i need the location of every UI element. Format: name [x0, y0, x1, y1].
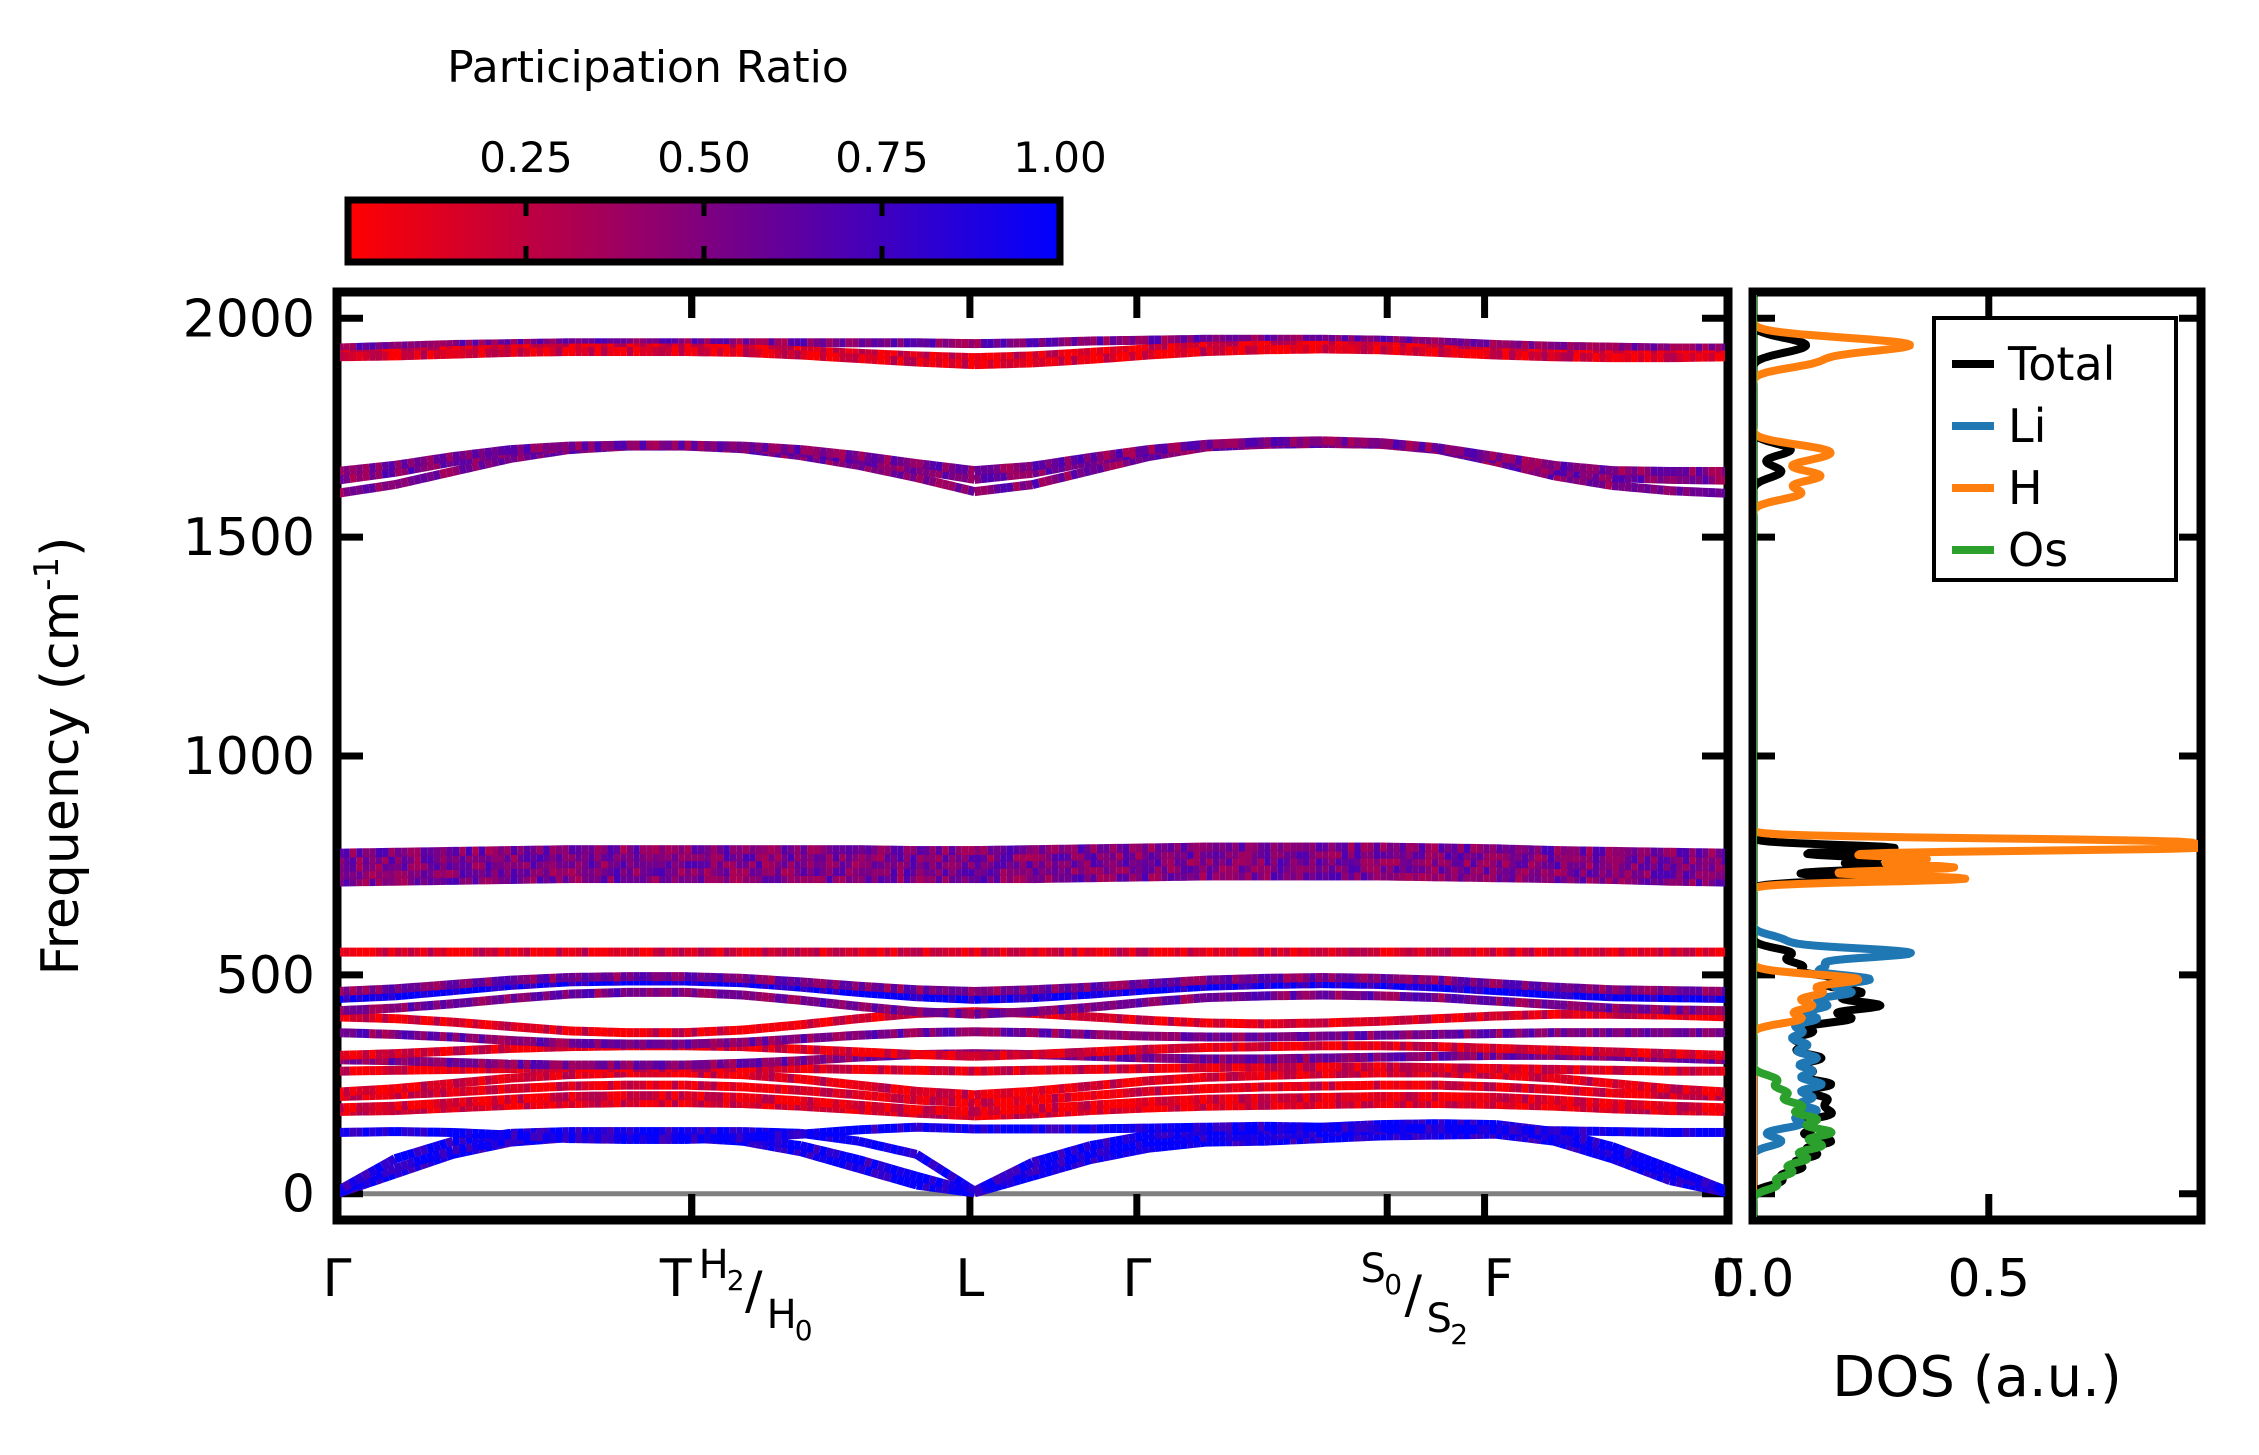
band-segment: [826, 1159, 832, 1161]
band-segment: [1644, 1086, 1650, 1087]
band-segment: [872, 1163, 878, 1165]
band-segment: [1020, 1165, 1026, 1168]
band-segment: [859, 1168, 865, 1170]
band-segment: [446, 471, 452, 472]
band-segment: [1039, 481, 1045, 483]
band-segment: [942, 1183, 948, 1185]
band-segment: [839, 1155, 845, 1157]
band-segment: [923, 1178, 929, 1180]
band-segment: [1187, 1143, 1193, 1144]
band-segment: [401, 1155, 407, 1157]
ylabel-main: Frequency (cm: [31, 591, 91, 976]
band-segment: [859, 1085, 865, 1086]
band-segment: [1644, 1159, 1650, 1161]
band-segment: [1026, 1162, 1032, 1165]
band-segment: [910, 1011, 916, 1012]
band-segment: [865, 1161, 871, 1163]
band-segment: [794, 1025, 800, 1026]
band-segment: [485, 1144, 491, 1145]
band-segment: [904, 1099, 910, 1100]
band-segment: [910, 1174, 916, 1176]
band-segment: [376, 1166, 382, 1170]
band-segment: [781, 1026, 787, 1027]
band-segment: [356, 489, 362, 490]
band-segment: [852, 1084, 858, 1085]
band-segment: [1000, 1175, 1006, 1178]
band-segment: [1116, 1004, 1122, 1005]
band-segment: [1554, 1078, 1560, 1079]
band-segment: [1084, 1160, 1090, 1162]
band-segment: [768, 997, 774, 998]
highsym-S-den-sub: 2: [1450, 1318, 1468, 1351]
band-segment: [878, 1087, 884, 1088]
band-segment: [524, 455, 530, 456]
band-segment: [768, 1027, 774, 1028]
band-segment: [1193, 1143, 1199, 1144]
band-segment: [1000, 488, 1006, 489]
band-segment: [865, 1017, 871, 1018]
band-segment: [1586, 1081, 1592, 1082]
y-tick-label: 1500: [183, 508, 315, 568]
x-tick-label-S0S2: S0/S2: [1361, 1246, 1469, 1351]
band-segment: [846, 1084, 852, 1085]
band-segment: [1580, 1081, 1586, 1082]
band-segment: [395, 483, 401, 484]
band-segment: [891, 1015, 897, 1016]
band-segment: [389, 1159, 395, 1163]
band-segment: [1573, 1137, 1579, 1139]
band-segment: [1696, 1178, 1702, 1181]
band-segment: [917, 1185, 923, 1186]
band-segment: [936, 1188, 942, 1189]
band-segment: [1200, 1137, 1206, 1138]
band-segment: [1174, 1139, 1180, 1140]
band-segment: [917, 1176, 923, 1178]
band-segment: [440, 473, 446, 474]
band-segment: [846, 1165, 852, 1167]
band-segment: [363, 488, 369, 489]
band-segment: [1148, 1141, 1154, 1142]
band-segment: [859, 1006, 865, 1007]
band-segment: [389, 1168, 395, 1171]
band-segment: [1110, 1148, 1116, 1149]
band-segment: [794, 1145, 800, 1146]
band-segment: [788, 1144, 794, 1145]
band-segment: [408, 1153, 414, 1155]
band-segment: [762, 1028, 768, 1029]
band-segment: [768, 1142, 774, 1143]
band-segment: [846, 1156, 852, 1158]
band-segment: [801, 1152, 807, 1154]
band-segment: [446, 1141, 452, 1143]
band-curves: [337, 339, 1728, 1193]
band-segment: [1123, 461, 1129, 463]
band-segment: [427, 1156, 433, 1158]
band-segment: [1123, 1004, 1129, 1005]
highsym-S-num: S: [1361, 1246, 1386, 1292]
band-segment: [382, 486, 388, 487]
band-segment: [1168, 1145, 1174, 1146]
band-segment: [955, 487, 961, 489]
band-segment: [504, 999, 510, 1000]
band-segment: [962, 488, 968, 490]
band-segment: [1181, 1144, 1187, 1145]
band-segment: [408, 994, 414, 995]
band-segment: [1136, 1081, 1142, 1082]
band-segment: [459, 1003, 465, 1004]
x-tick-label: L: [955, 1249, 984, 1309]
band-segment: [1123, 1083, 1129, 1084]
band-segment: [826, 1021, 832, 1022]
band-segment: [891, 1178, 897, 1180]
band-segment: [1631, 1160, 1637, 1162]
band-segment: [820, 1150, 826, 1152]
band-segment: [453, 470, 459, 471]
band-segment: [1619, 1149, 1625, 1151]
band-segment: [1715, 1186, 1721, 1189]
band-segment: [859, 1018, 865, 1019]
band-segment: [878, 1016, 884, 1017]
band-segment: [904, 1181, 910, 1183]
band-segment: [498, 999, 504, 1000]
band-segment: [917, 478, 923, 480]
band-segment: [814, 1149, 820, 1151]
band-segment: [485, 463, 491, 464]
band-segment: [446, 1083, 452, 1084]
band-segment: [434, 1154, 440, 1156]
band-segment: [846, 1019, 852, 1020]
band-segment: [929, 1187, 935, 1188]
band-segment: [820, 1002, 826, 1003]
band-segment: [846, 991, 852, 992]
band-segment: [1071, 1087, 1077, 1088]
band-segment: [434, 1085, 440, 1086]
band-segment: [1142, 1081, 1148, 1082]
band-segment: [891, 1009, 897, 1010]
band-segment: [1612, 1083, 1618, 1084]
band-segment: [1657, 1163, 1663, 1165]
band-segment: [878, 1165, 884, 1167]
band-segment: [1058, 1153, 1064, 1155]
x-tick-label: Γ: [323, 1249, 352, 1309]
band-segment: [929, 1163, 935, 1167]
band-segment: [414, 994, 420, 995]
y-tick-label: 1000: [183, 727, 315, 787]
highsym-H-num-sub: 2: [727, 1264, 745, 1297]
band-segment: [1136, 1003, 1142, 1004]
band-segment: [884, 1088, 890, 1089]
band-segment: [1638, 1163, 1644, 1165]
band-segment: [434, 474, 440, 475]
band-segment: [459, 469, 465, 470]
band-segment: [440, 1152, 446, 1154]
band-segment: [1631, 1154, 1637, 1156]
band-segment: [459, 1148, 465, 1149]
band-segment: [1071, 474, 1077, 476]
band-segment: [1657, 1088, 1663, 1089]
band-segment: [1039, 1159, 1045, 1161]
band-segment: [395, 995, 401, 996]
band-segment: [1593, 1141, 1599, 1143]
band-segment: [833, 1004, 839, 1005]
band-segment: [1033, 483, 1039, 485]
band-segment: [775, 1142, 781, 1143]
band-segment: [401, 482, 407, 483]
band-segment: [1116, 1147, 1122, 1148]
colorbar-title: Participation Ratio: [447, 42, 849, 93]
band-segment: [936, 482, 942, 484]
band-segment: [904, 1090, 910, 1091]
band-segment: [884, 1009, 890, 1010]
band-segment: [872, 1008, 878, 1009]
band-segment: [472, 1001, 478, 1002]
band-segment: [1045, 1165, 1051, 1167]
band-segment: [446, 991, 452, 992]
band-segment: [1142, 1142, 1148, 1143]
band-segment: [1148, 1148, 1154, 1149]
band-segment: [1084, 471, 1090, 473]
band-segment: [897, 1179, 903, 1181]
figure-root: Participation Ratio0.250.500.751.0005001…: [0, 0, 2259, 1455]
band-segment: [459, 989, 465, 990]
band-segment: [1103, 1084, 1109, 1085]
band-segment: [1136, 1143, 1142, 1144]
x-tick-label: F: [1484, 1249, 1514, 1309]
band-segment: [395, 1157, 401, 1159]
band-segment: [1136, 1136, 1142, 1137]
band-segment: [1078, 1147, 1084, 1149]
band-segment: [343, 1184, 349, 1188]
band-segment: [1110, 464, 1116, 466]
band-segment: [1625, 1158, 1631, 1160]
band-segment: [414, 479, 420, 480]
band-segment: [1580, 1144, 1586, 1146]
band-segment: [1200, 1142, 1206, 1143]
band-segment: [1193, 1137, 1199, 1138]
band-segment: [1071, 1157, 1077, 1159]
band-segment: [1123, 1152, 1129, 1153]
band-segment: [852, 1006, 858, 1007]
band-segment: [1155, 1141, 1161, 1142]
band-segment: [814, 1155, 820, 1157]
band-segment: [1013, 486, 1019, 487]
band-segment: [1129, 1137, 1135, 1138]
band-segment: [356, 1177, 362, 1181]
band-segment: [872, 1087, 878, 1088]
colorbar: Participation Ratio0.250.500.751.00: [348, 42, 1107, 262]
band-segment: [788, 1149, 794, 1150]
band-segment: [781, 1143, 787, 1144]
band-segment: [1573, 1142, 1579, 1144]
band-segment: [756, 1028, 762, 1029]
band-segment: [414, 1151, 420, 1153]
band-segment: [1110, 1141, 1116, 1142]
band-segment: [891, 472, 897, 473]
band-segment: [498, 986, 504, 987]
band-segment: [479, 1001, 485, 1002]
band-segment: [833, 1082, 839, 1083]
band-segment: [466, 1139, 472, 1140]
band-segment: [1065, 1151, 1071, 1153]
band-segment: [466, 1002, 472, 1003]
band-segment: [421, 993, 427, 994]
band-segment: [453, 1083, 459, 1084]
band-segment: [897, 1098, 903, 1099]
colorbar-tick-label: 0.75: [835, 133, 929, 182]
band-segment: [1631, 1085, 1637, 1086]
band-segment: [472, 1081, 478, 1082]
band-segment: [479, 1081, 485, 1082]
band-segment: [936, 1167, 942, 1171]
band-segment: [504, 458, 510, 459]
band-segment: [1123, 1139, 1129, 1140]
band-segment: [891, 1089, 897, 1090]
band-segment: [826, 989, 832, 990]
band-segment: [749, 1029, 755, 1030]
band-segment: [904, 1151, 910, 1152]
band-segment: [1612, 1153, 1618, 1155]
band-segment: [807, 1023, 813, 1024]
band-segment: [1110, 1084, 1116, 1085]
band-segment: [929, 481, 935, 483]
band-segment: [910, 1183, 916, 1185]
band-segment: [923, 1158, 929, 1162]
band-segment: [878, 469, 884, 470]
band-segment: [807, 1080, 813, 1081]
band-segment: [820, 1022, 826, 1023]
band-segment: [498, 1079, 504, 1080]
band-segment: [1065, 1159, 1071, 1161]
band-segment: [801, 1024, 807, 1025]
band-segment: [1103, 1142, 1109, 1143]
band-segment: [1052, 478, 1058, 480]
band-segment: [1496, 1125, 1502, 1126]
band-segment: [781, 999, 787, 1000]
band-segment: [1110, 1005, 1116, 1006]
band-segment: [1161, 1140, 1167, 1141]
band-segment: [446, 1150, 452, 1152]
band-segment: [1142, 1002, 1148, 1003]
band-segment: [395, 1166, 401, 1168]
band-segment: [794, 1000, 800, 1001]
band-segment: [1129, 1151, 1135, 1152]
band-segment: [975, 1188, 981, 1191]
band-segment: [904, 1010, 910, 1011]
band-segment: [1129, 1145, 1135, 1146]
band-segment: [884, 1167, 890, 1169]
band-segment: [1612, 1146, 1618, 1148]
band-segment: [1020, 1173, 1026, 1175]
band-segment: [878, 1008, 884, 1009]
band-segment: [749, 996, 755, 997]
band-segment: [1129, 1082, 1135, 1083]
band-segment: [814, 1023, 820, 1024]
band-segment: [1065, 1088, 1071, 1089]
band-segment: [884, 1016, 890, 1017]
band-segment: [434, 992, 440, 993]
band-segment: [408, 1162, 414, 1164]
band-segment: [440, 1143, 446, 1145]
band-segment: [1033, 1169, 1039, 1171]
band-segment: [929, 1180, 935, 1182]
band-segment: [504, 1140, 510, 1141]
band-segment: [801, 1146, 807, 1148]
band-segment: [479, 464, 485, 465]
band-segment: [936, 1181, 942, 1183]
band-segment: [453, 1149, 459, 1150]
band-segment: [492, 1000, 498, 1001]
band-segment: [891, 1169, 897, 1171]
band-segment: [1033, 1091, 1039, 1092]
band-segment: [1090, 469, 1096, 471]
band-segment: [1071, 1149, 1077, 1151]
band-segment: [1548, 1136, 1554, 1137]
band-segment: [401, 1164, 407, 1166]
band-segment: [343, 491, 349, 492]
band-segment: [1084, 1153, 1090, 1155]
band-segment: [1045, 1090, 1051, 1091]
band-segment: [1084, 1086, 1090, 1087]
band-segment: [852, 1140, 858, 1141]
band-segment: [775, 1027, 781, 1028]
band-segment: [1097, 1143, 1103, 1144]
band-segment: [820, 1157, 826, 1159]
band-segment: [968, 490, 974, 492]
band-segment: [1090, 1144, 1096, 1145]
band-segment: [762, 1141, 768, 1142]
band-segment: [826, 1003, 832, 1004]
band-segment: [987, 489, 993, 490]
band-segment: [762, 997, 768, 998]
band-segment: [865, 1007, 871, 1008]
band-segment: [788, 1025, 794, 1026]
band-segment: [466, 1082, 472, 1083]
band-segment: [839, 991, 845, 992]
band-segment: [846, 1005, 852, 1006]
band-segment: [1664, 1088, 1670, 1089]
band-segment: [1599, 1082, 1605, 1083]
band-segment: [884, 471, 890, 472]
band-segment: [865, 1170, 871, 1172]
band-segment: [891, 1149, 897, 1150]
band-segment: [479, 1145, 485, 1146]
band-segment: [833, 1153, 839, 1155]
band-segment: [949, 1175, 955, 1179]
band-segment: [1078, 1155, 1084, 1157]
band-segment: [910, 1099, 916, 1100]
band-segment: [1625, 1085, 1631, 1086]
band-segment: [878, 1174, 884, 1176]
band-segment: [369, 488, 375, 489]
band-segment: [807, 1001, 813, 1002]
band-segment: [820, 989, 826, 990]
band-segment: [453, 1140, 459, 1141]
band-segment: [472, 988, 478, 989]
band-segment: [1599, 1150, 1605, 1152]
band-segment: [872, 1172, 878, 1174]
band-segment: [1689, 1176, 1695, 1179]
band-segment: [839, 1139, 845, 1140]
band-segment: [859, 1160, 865, 1162]
band-segment: [1664, 1166, 1670, 1168]
band-segment: [743, 995, 749, 996]
band-segment: [833, 990, 839, 991]
band-segment: [1026, 1171, 1032, 1173]
band-segment: [1606, 1152, 1612, 1154]
band-segment: [389, 485, 395, 486]
band-segment: [1033, 1160, 1039, 1162]
band-segment: [453, 1003, 459, 1004]
